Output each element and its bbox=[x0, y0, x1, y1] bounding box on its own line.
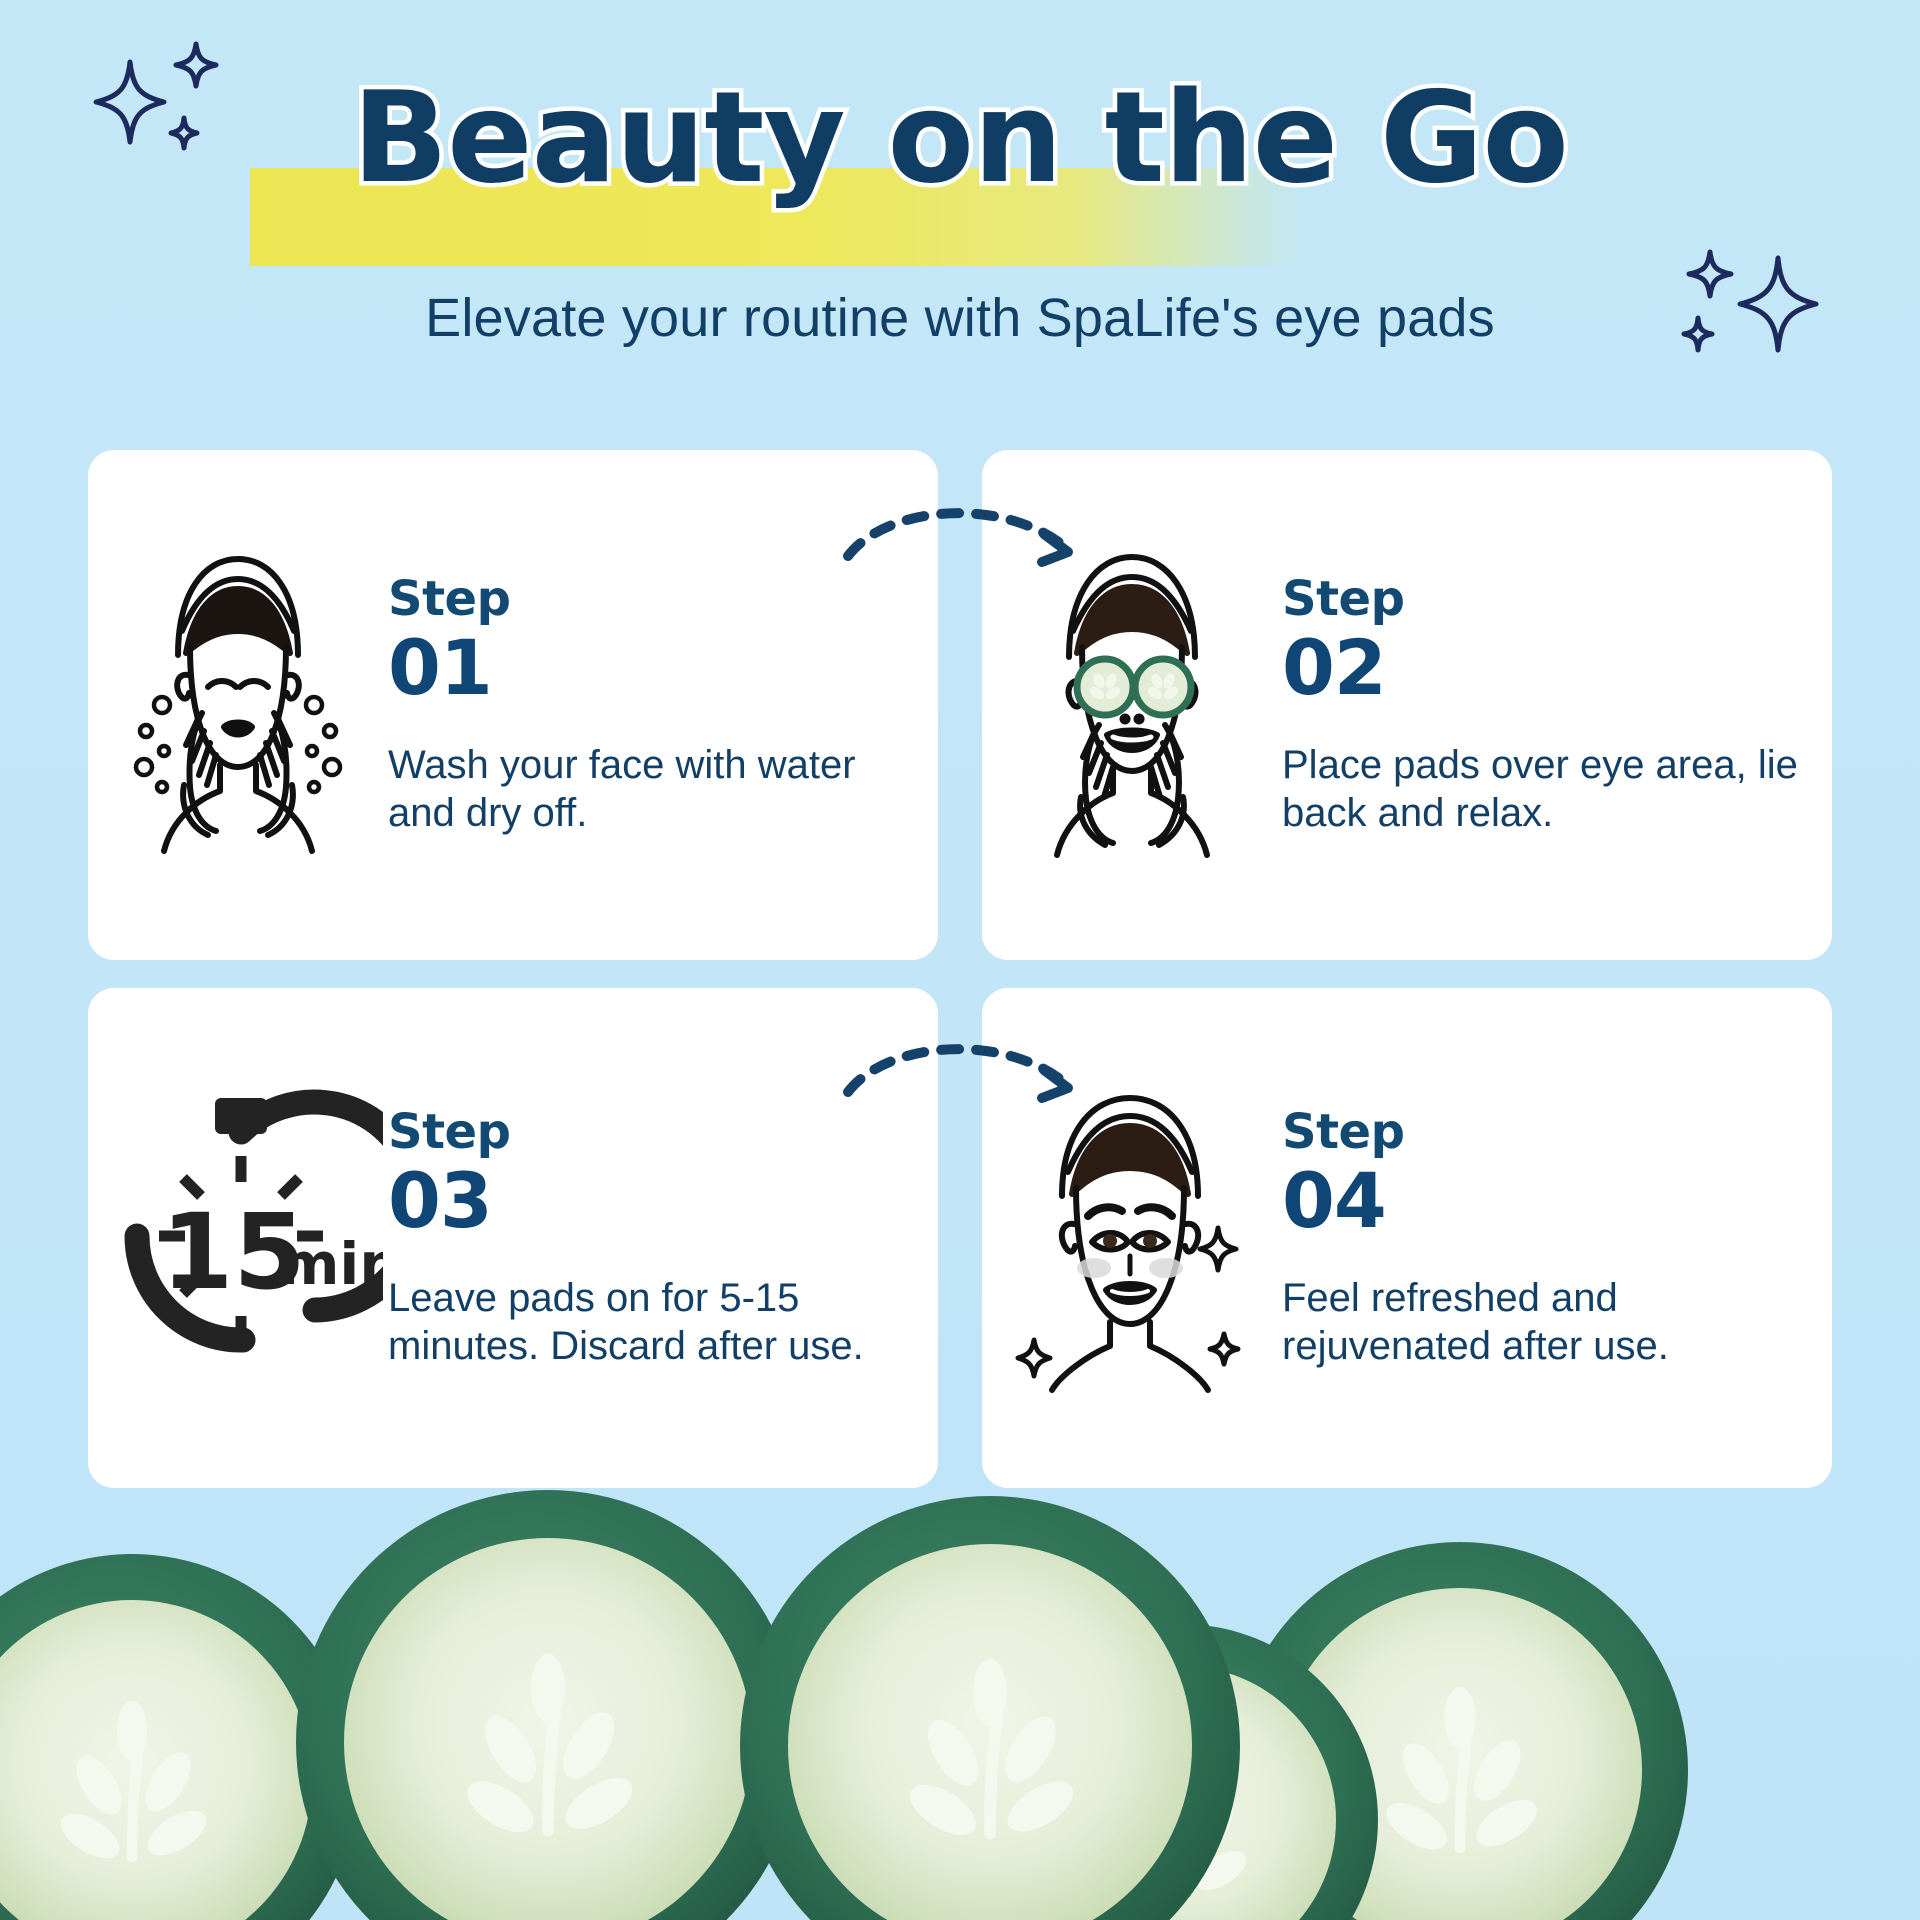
step-card-03[interactable]: 15 mins Step 03 Leave pads on for 5-15 m… bbox=[88, 988, 938, 1488]
dashed-curved-arrow-icon-2 bbox=[840, 1026, 1100, 1136]
step-card-01[interactable]: Step 01 Wash your face with water and dr… bbox=[88, 450, 938, 960]
cucumber-pad-left bbox=[1077, 659, 1133, 715]
washing-face-icon bbox=[88, 450, 388, 960]
infographic-canvas: Beauty on the Go Elevate your routine wi… bbox=[0, 0, 1920, 1920]
dashed-curved-arrow-icon-1 bbox=[840, 490, 1100, 600]
step-description-02: Place pads over eye area, lie back and r… bbox=[1282, 741, 1804, 837]
step-description-03: Leave pads on for 5-15 minutes. Discard … bbox=[388, 1274, 910, 1370]
page-subtitle: Elevate your routine with SpaLife's eye … bbox=[0, 288, 1920, 348]
step-label-04: Step bbox=[1282, 1106, 1804, 1158]
page-title: Beauty on the Go bbox=[352, 78, 1568, 198]
step-label-02: Step bbox=[1282, 573, 1804, 625]
step-card-04[interactable]: Step 04 Feel refreshed and rejuvenated a… bbox=[982, 988, 1832, 1488]
step-label-03: Step bbox=[388, 1106, 910, 1158]
page-title-wrapper: Beauty on the Go bbox=[0, 78, 1920, 198]
cucumber-slice bbox=[740, 1496, 1240, 1920]
timer-unit-text: mins bbox=[279, 1230, 383, 1298]
cucumber-slice bbox=[296, 1490, 800, 1920]
step-number-02: 02 bbox=[1282, 627, 1804, 709]
step-description-04: Feel refreshed and rejuvenated after use… bbox=[1282, 1274, 1804, 1370]
step-number-03: 03 bbox=[388, 1160, 910, 1242]
step-label-01: Step bbox=[388, 573, 910, 625]
cucumber-slice-pads-band bbox=[0, 1470, 1920, 1920]
step-description-01: Wash your face with water and dry off. bbox=[388, 741, 910, 837]
cucumber-pad-right bbox=[1135, 659, 1191, 715]
step-number-04: 04 bbox=[1282, 1160, 1804, 1242]
step-card-02[interactable]: Step 02 Place pads over eye area, lie ba… bbox=[982, 450, 1832, 960]
timer-15-mins-icon: 15 mins bbox=[88, 988, 388, 1488]
step-number-01: 01 bbox=[388, 627, 910, 709]
